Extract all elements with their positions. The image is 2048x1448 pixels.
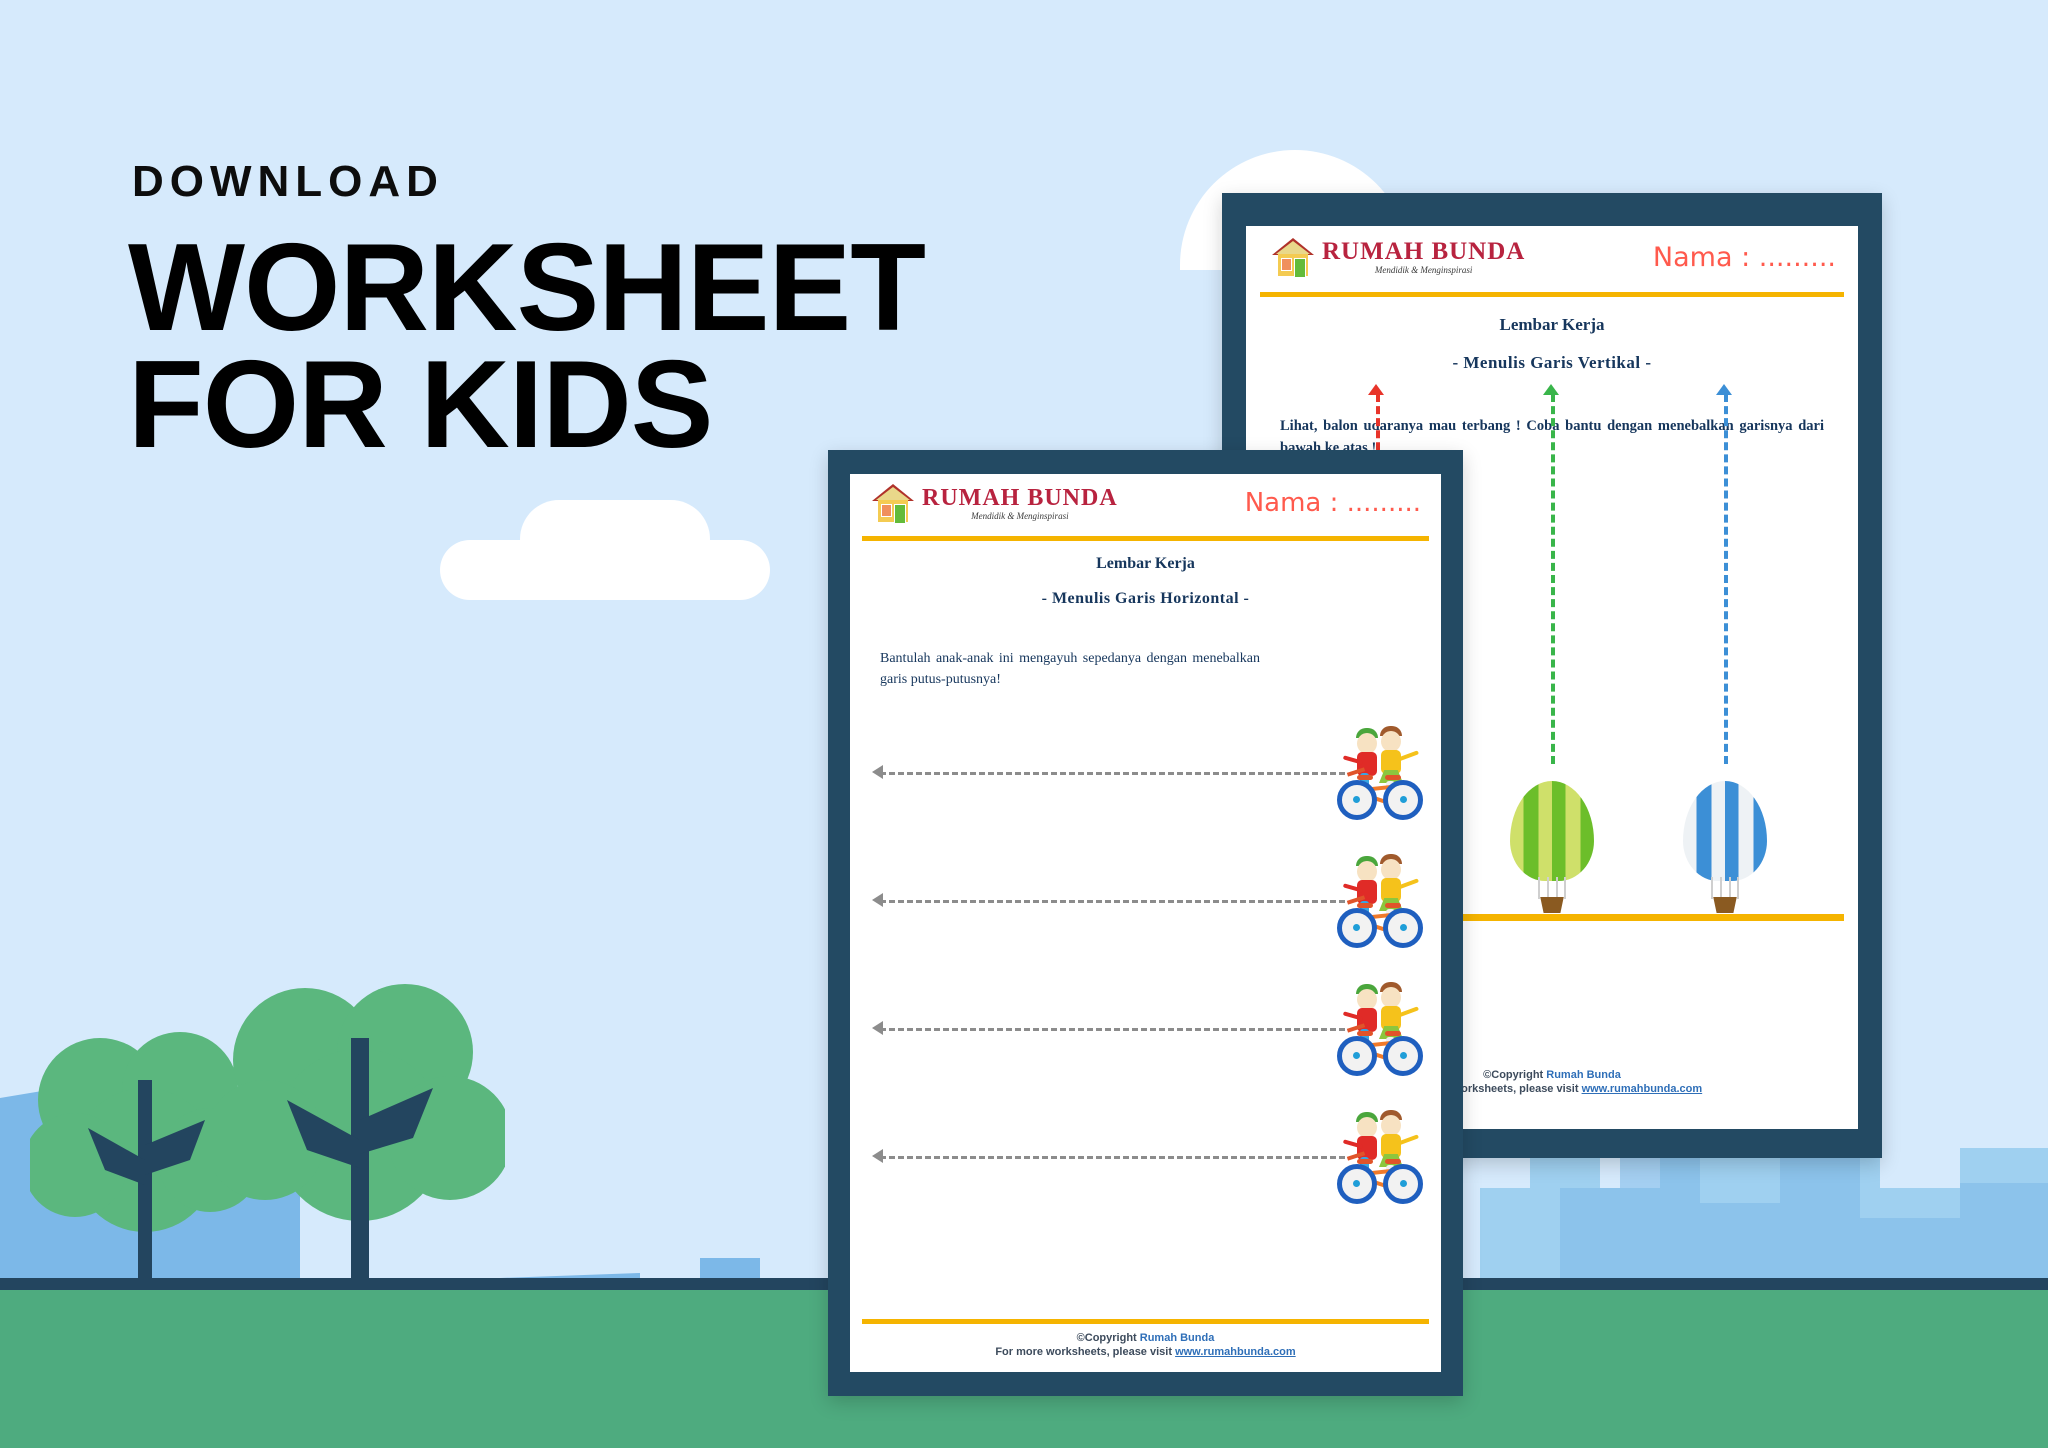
footer-copyright-horizontal: ©Copyright Rumah Bunda: [850, 1332, 1441, 1344]
worksheet-header-horizontal: RUMAH BUNDA Mendidik & Menginspirasi Nam…: [850, 474, 1441, 536]
worksheet-page-horizontal: RUMAH BUNDA Mendidik & Menginspirasi Nam…: [850, 474, 1441, 1372]
left-arrow-icon-1: [872, 765, 883, 779]
header-rule-vertical: [1260, 292, 1844, 297]
blue-up-arrow-icon: [1716, 384, 1732, 395]
horizontal-trace-area: [850, 720, 1441, 1232]
brand-tagline-vertical: Mendidik & Menginspirasi: [1322, 266, 1525, 275]
cloud-shape-2: [520, 500, 710, 578]
house-icon: [1272, 238, 1314, 276]
trace-row-2[interactable]: [850, 848, 1441, 976]
worksheet-card-horizontal[interactable]: RUMAH BUNDA Mendidik & Menginspirasi Nam…: [828, 450, 1463, 1396]
worksheet-subtitle-vertical: - Menulis Garis Vertikal -: [1246, 353, 1858, 373]
blue-vertical-trace-line[interactable]: [1724, 394, 1728, 764]
bicycle-kids-illustration-2: [1337, 856, 1423, 948]
footer-visit-line-horizontal: For more worksheets, please visit www.ru…: [850, 1346, 1441, 1358]
footer-brand-name: Rumah Bunda: [1140, 1332, 1215, 1344]
worksheet-title-horizontal: Lembar Kerja: [850, 555, 1441, 573]
trace-row-1[interactable]: [850, 720, 1441, 848]
house-icon: [872, 484, 914, 522]
bicycle-kids-illustration-4: [1337, 1112, 1423, 1204]
footer-rule-horizontal: [862, 1319, 1429, 1324]
footer-copyright-prefix: ©Copyright: [1483, 1069, 1546, 1081]
kicker-text: DOWNLOAD: [132, 160, 1028, 204]
name-field-horizontal[interactable]: Nama : .........: [1245, 488, 1421, 518]
title-line-2: FOR KIDS: [128, 347, 1028, 464]
brand-logo-vertical: RUMAH BUNDA Mendidik & Menginspirasi: [1272, 238, 1525, 276]
dashed-line-1[interactable]: [880, 772, 1345, 775]
worksheet-instruction-horizontal: Bantulah anak-anak ini mengayuh sepedany…: [880, 648, 1260, 690]
dashed-line-4[interactable]: [880, 1156, 1345, 1159]
left-arrow-icon-3: [872, 1021, 883, 1035]
brand-name-horizontal: RUMAH BUNDA: [922, 486, 1118, 510]
bicycle-kids-illustration-1: [1337, 728, 1423, 820]
bicycle-kids-illustration-3: [1337, 984, 1423, 1076]
footer-visit-prefix: For more worksheets, please visit: [995, 1346, 1175, 1358]
tree-right: [215, 960, 505, 1300]
page-title: WORKSHEET FOR KIDS: [128, 230, 1028, 463]
worksheet-title-vertical: Lembar Kerja: [1246, 315, 1858, 335]
green-up-arrow-icon: [1543, 384, 1559, 395]
poster-canvas: DOWNLOAD WORKSHEET FOR KIDS RUMAH BUNDA …: [0, 0, 2048, 1448]
blue-hot-air-balloon: [1683, 781, 1767, 917]
footer-website-link[interactable]: www.rumahbunda.com: [1175, 1346, 1296, 1358]
green-hot-air-balloon: [1510, 781, 1594, 917]
trace-row-3[interactable]: [850, 976, 1441, 1104]
worksheet-footer-horizontal: ©Copyright Rumah Bunda For more workshee…: [850, 1319, 1441, 1358]
name-field-vertical[interactable]: Nama : .........: [1653, 242, 1836, 273]
green-vertical-trace-line[interactable]: [1551, 394, 1555, 764]
left-arrow-icon-2: [872, 893, 883, 907]
left-arrow-icon-4: [872, 1149, 883, 1163]
worksheet-subtitle-horizontal: - Menulis Garis Horizontal -: [850, 590, 1441, 608]
red-up-arrow-icon: [1368, 384, 1384, 395]
trace-row-4[interactable]: [850, 1104, 1441, 1232]
brand-name-vertical: RUMAH BUNDA: [1322, 239, 1525, 264]
footer-copyright-prefix: ©Copyright: [1077, 1332, 1140, 1344]
dashed-line-2[interactable]: [880, 900, 1345, 903]
dashed-line-3[interactable]: [880, 1028, 1345, 1031]
headline-block: DOWNLOAD WORKSHEET FOR KIDS: [128, 160, 1028, 463]
brand-logo-horizontal: RUMAH BUNDA Mendidik & Menginspirasi: [872, 484, 1118, 522]
footer-website-link[interactable]: www.rumahbunda.com: [1582, 1083, 1703, 1095]
footer-brand-name: Rumah Bunda: [1546, 1069, 1621, 1081]
worksheet-header-vertical: RUMAH BUNDA Mendidik & Menginspirasi Nam…: [1246, 226, 1858, 292]
brand-tagline-horizontal: Mendidik & Menginspirasi: [922, 512, 1118, 521]
header-rule-horizontal: [862, 536, 1429, 541]
